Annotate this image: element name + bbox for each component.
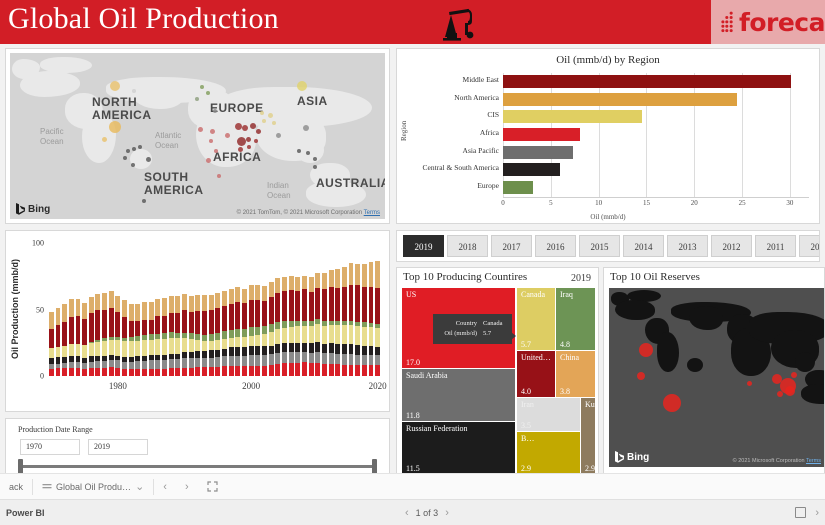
stacked-segment[interactable] bbox=[222, 356, 227, 366]
stacked-segment[interactable] bbox=[235, 347, 240, 356]
stacked-segment[interactable] bbox=[335, 269, 340, 288]
map-data-bubble[interactable] bbox=[131, 163, 135, 167]
map-data-bubble[interactable] bbox=[126, 149, 130, 153]
stacked-column[interactable] bbox=[229, 289, 234, 376]
stacked-segment[interactable] bbox=[262, 334, 267, 346]
status-bar-actions[interactable]: › bbox=[795, 507, 819, 519]
stacked-segment[interactable] bbox=[242, 366, 247, 376]
stacked-segment[interactable] bbox=[322, 289, 327, 322]
stacked-segment[interactable] bbox=[222, 349, 227, 357]
stacked-column[interactable] bbox=[349, 263, 354, 376]
stacked-segment[interactable] bbox=[135, 341, 140, 357]
bar-row[interactable]: Middle East bbox=[503, 73, 809, 91]
stacked-segment[interactable] bbox=[255, 366, 260, 376]
stacked-segment[interactable] bbox=[369, 355, 374, 365]
stacked-segment[interactable] bbox=[349, 285, 354, 320]
stacked-segment[interactable] bbox=[375, 355, 380, 365]
stacked-segment[interactable] bbox=[322, 344, 327, 354]
stacked-segment[interactable] bbox=[302, 326, 307, 343]
map-data-bubble[interactable] bbox=[132, 89, 136, 93]
stacked-segment[interactable] bbox=[202, 295, 207, 311]
stacked-segment[interactable] bbox=[229, 289, 234, 304]
production-map-visual[interactable]: Bing © 2021 TomTom, © 2021 Microsoft Cor… bbox=[5, 48, 390, 224]
stacked-segment[interactable] bbox=[302, 276, 307, 290]
stacked-segment[interactable] bbox=[95, 294, 100, 310]
stacked-column[interactable] bbox=[155, 299, 160, 376]
stacked-segment[interactable] bbox=[342, 354, 347, 365]
stacked-segment[interactable] bbox=[202, 341, 207, 352]
stacked-segment[interactable] bbox=[349, 344, 354, 354]
stacked-segment[interactable] bbox=[209, 310, 214, 334]
stacked-column[interactable] bbox=[142, 302, 147, 376]
stacked-segment[interactable] bbox=[362, 355, 367, 365]
stacked-segment[interactable] bbox=[275, 322, 280, 329]
stacked-segment[interactable] bbox=[149, 360, 154, 369]
stacked-segment[interactable] bbox=[56, 368, 61, 376]
treemap-tile[interactable]: B…2.9 bbox=[517, 432, 580, 474]
stacked-segment[interactable] bbox=[89, 297, 94, 313]
stacked-segment[interactable] bbox=[269, 354, 274, 365]
stacked-column[interactable] bbox=[76, 299, 81, 376]
stacked-segment[interactable] bbox=[262, 355, 267, 366]
stacked-column[interactable] bbox=[175, 296, 180, 376]
date-range-handle-right[interactable] bbox=[372, 459, 377, 474]
map-data-bubble[interactable] bbox=[313, 157, 317, 161]
stacked-segment[interactable] bbox=[102, 368, 107, 376]
stacked-segment[interactable] bbox=[209, 334, 214, 341]
stacked-column[interactable] bbox=[302, 276, 307, 376]
bar-rect[interactable] bbox=[503, 93, 737, 106]
stacked-segment[interactable] bbox=[255, 300, 260, 327]
stacked-segment[interactable] bbox=[195, 367, 200, 376]
stacked-segment[interactable] bbox=[315, 363, 320, 376]
year-slicer-button-2013[interactable]: 2013 bbox=[667, 235, 708, 257]
stacked-segment[interactable] bbox=[235, 302, 240, 329]
stacked-segment[interactable] bbox=[215, 367, 220, 376]
stacked-segment[interactable] bbox=[222, 331, 227, 339]
stacked-segment[interactable] bbox=[169, 368, 174, 376]
stacked-segment[interactable] bbox=[115, 296, 120, 313]
stacked-segment[interactable] bbox=[362, 327, 367, 346]
stacked-segment[interactable] bbox=[215, 333, 220, 340]
reserves-data-bubble[interactable] bbox=[785, 386, 795, 396]
map-data-bubble[interactable] bbox=[198, 127, 203, 132]
stacked-segment[interactable] bbox=[295, 291, 300, 321]
stacked-segment[interactable] bbox=[155, 299, 160, 317]
stacked-segment[interactable] bbox=[109, 291, 114, 308]
stacked-segment[interactable] bbox=[275, 344, 280, 353]
map-data-bubble[interactable] bbox=[256, 129, 261, 134]
stacked-segment[interactable] bbox=[182, 358, 187, 367]
map-terms-link[interactable]: Terms bbox=[364, 210, 380, 216]
stacked-segment[interactable] bbox=[249, 366, 254, 376]
stacked-column[interactable] bbox=[375, 261, 380, 376]
bar-row[interactable]: Europe bbox=[503, 179, 809, 197]
map-data-bubble[interactable] bbox=[142, 199, 146, 203]
stacked-segment[interactable] bbox=[76, 316, 81, 344]
stacked-segment[interactable] bbox=[275, 364, 280, 376]
year-slicer-strip[interactable]: 2019201820172016201520142013201220112010… bbox=[403, 235, 819, 259]
bar-row[interactable]: Africa bbox=[503, 126, 809, 144]
stacked-segment[interactable] bbox=[309, 326, 314, 343]
stacked-segment[interactable] bbox=[302, 289, 307, 320]
stacked-segment[interactable] bbox=[202, 358, 207, 367]
stacked-column[interactable] bbox=[289, 276, 294, 376]
map-data-bubble[interactable] bbox=[213, 109, 217, 113]
stacked-segment[interactable] bbox=[62, 346, 67, 357]
stacked-segment[interactable] bbox=[282, 291, 287, 322]
oil-production-stacked-column-chart[interactable]: Oil Production (mmb/d) 050100 1980200020… bbox=[5, 230, 390, 412]
bar-row[interactable]: CIS bbox=[503, 108, 809, 126]
bar-rect[interactable] bbox=[503, 110, 642, 123]
stacked-segment[interactable] bbox=[122, 317, 127, 338]
stacked-segment[interactable] bbox=[355, 326, 360, 345]
stacked-column[interactable] bbox=[295, 277, 300, 376]
stacked-segment[interactable] bbox=[209, 341, 214, 351]
stacked-segment[interactable] bbox=[335, 344, 340, 354]
stacked-segment[interactable] bbox=[362, 264, 367, 287]
stacked-segment[interactable] bbox=[142, 361, 147, 369]
map-data-bubble[interactable] bbox=[132, 147, 136, 151]
stacked-segment[interactable] bbox=[302, 352, 307, 363]
map-data-bubble[interactable] bbox=[272, 121, 276, 125]
pager-next-icon[interactable]: › bbox=[445, 507, 449, 519]
map-data-bubble[interactable] bbox=[260, 111, 264, 115]
map-data-bubble[interactable] bbox=[109, 121, 121, 133]
stacked-segment[interactable] bbox=[309, 292, 314, 321]
bar-rect[interactable] bbox=[503, 128, 580, 141]
treemap-tile[interactable]: United…4.0 bbox=[517, 351, 555, 397]
stacked-segment[interactable] bbox=[355, 285, 360, 321]
map-data-bubble[interactable] bbox=[303, 125, 309, 131]
stacked-segment[interactable] bbox=[229, 347, 234, 356]
stacked-segment[interactable] bbox=[142, 369, 147, 376]
stacked-segment[interactable] bbox=[289, 327, 294, 343]
nav-prev-button[interactable]: ‹ bbox=[154, 474, 176, 499]
stacked-column[interactable] bbox=[149, 302, 154, 376]
stacked-segment[interactable] bbox=[295, 343, 300, 352]
stacked-segment[interactable] bbox=[289, 290, 294, 321]
stacked-segment[interactable] bbox=[249, 346, 254, 355]
stacked-segment[interactable] bbox=[282, 277, 287, 291]
stacked-segment[interactable] bbox=[222, 339, 227, 348]
stacked-segment[interactable] bbox=[115, 360, 120, 367]
year-slicer-button-2019[interactable]: 2019 bbox=[403, 235, 444, 257]
stacked-segment[interactable] bbox=[355, 355, 360, 366]
stacked-segment[interactable] bbox=[335, 364, 340, 376]
map-data-bubble[interactable] bbox=[297, 81, 307, 91]
stacked-segment[interactable] bbox=[162, 339, 167, 355]
stacked-segment[interactable] bbox=[56, 308, 61, 326]
nav-next-button[interactable]: › bbox=[176, 474, 198, 499]
treemap-tile[interactable]: Saudi Arabia11.8 bbox=[402, 369, 515, 421]
stacked-segment[interactable] bbox=[102, 361, 107, 368]
stacked-segment[interactable] bbox=[215, 357, 220, 367]
stacked-segment[interactable] bbox=[115, 340, 120, 356]
stacked-segment[interactable] bbox=[189, 312, 194, 333]
stacked-segment[interactable] bbox=[169, 296, 174, 314]
stacked-segment[interactable] bbox=[369, 346, 374, 355]
stacked-column[interactable] bbox=[335, 269, 340, 376]
stacked-segment[interactable] bbox=[289, 343, 294, 352]
stacked-segment[interactable] bbox=[342, 287, 347, 321]
stacked-segment[interactable] bbox=[349, 263, 354, 285]
stacked-segment[interactable] bbox=[235, 337, 240, 346]
year-slicer-button-2015[interactable]: 2015 bbox=[579, 235, 620, 257]
stacked-segment[interactable] bbox=[329, 287, 334, 321]
stacked-segment[interactable] bbox=[69, 368, 74, 377]
stacked-segment[interactable] bbox=[142, 340, 147, 356]
stacked-segment[interactable] bbox=[302, 343, 307, 352]
stacked-segment[interactable] bbox=[189, 368, 194, 377]
stacked-segment[interactable] bbox=[129, 369, 134, 376]
stacked-segment[interactable] bbox=[282, 352, 287, 363]
stacked-column[interactable] bbox=[202, 295, 207, 376]
stacked-segment[interactable] bbox=[269, 282, 274, 297]
stacked-segment[interactable] bbox=[56, 347, 61, 357]
map-data-bubble[interactable] bbox=[210, 129, 215, 134]
stacked-segment[interactable] bbox=[82, 369, 87, 376]
stacked-segment[interactable] bbox=[282, 363, 287, 376]
stacked-segment[interactable] bbox=[209, 367, 214, 376]
stacked-segment[interactable] bbox=[242, 356, 247, 366]
stacked-segment[interactable] bbox=[69, 344, 74, 355]
stacked-segment[interactable] bbox=[129, 362, 134, 370]
stacked-segment[interactable] bbox=[375, 328, 380, 347]
reserves-map-canvas[interactable]: Bing © 2021 Microsoft Corporation Terms bbox=[609, 288, 824, 467]
bar-rect[interactable] bbox=[503, 146, 573, 159]
stacked-segment[interactable] bbox=[82, 345, 87, 358]
oil-by-region-bar-chart[interactable]: Oil (mmb/d) by Region Region Middle East… bbox=[396, 48, 820, 224]
stacked-segment[interactable] bbox=[269, 332, 274, 346]
year-slicer-button-2010[interactable]: 2010 bbox=[799, 235, 819, 257]
stacked-segment[interactable] bbox=[275, 353, 280, 364]
stacked-segment[interactable] bbox=[89, 368, 94, 376]
stacked-segment[interactable] bbox=[182, 310, 187, 332]
bar-rect[interactable] bbox=[503, 181, 533, 194]
stacked-segment[interactable] bbox=[195, 311, 200, 334]
stacked-segment[interactable] bbox=[89, 313, 94, 342]
stacked-segment[interactable] bbox=[82, 319, 87, 344]
stacked-segment[interactable] bbox=[362, 287, 367, 323]
status-more-icon[interactable]: › bbox=[815, 507, 819, 519]
stacked-segment[interactable] bbox=[155, 369, 160, 376]
stacked-segment[interactable] bbox=[215, 308, 220, 332]
stacked-segment[interactable] bbox=[249, 285, 254, 300]
stacked-column[interactable] bbox=[329, 270, 334, 376]
stacked-segment[interactable] bbox=[175, 296, 180, 313]
stacked-column[interactable] bbox=[309, 277, 314, 376]
map-data-bubble[interactable] bbox=[297, 149, 301, 153]
stacked-segment[interactable] bbox=[62, 304, 67, 322]
stacked-segment[interactable] bbox=[255, 355, 260, 365]
stacked-column[interactable] bbox=[69, 299, 74, 376]
stacked-segment[interactable] bbox=[109, 360, 114, 367]
stacked-segment[interactable] bbox=[182, 368, 187, 377]
stacked-segment[interactable] bbox=[222, 291, 227, 306]
stacked-segment[interactable] bbox=[49, 348, 54, 357]
top-producing-countries-treemap[interactable]: Top 10 Producing Countires 2019 US17.0Sa… bbox=[396, 267, 599, 474]
stacked-segment[interactable] bbox=[249, 327, 254, 335]
stacked-segment[interactable] bbox=[109, 308, 114, 337]
stacked-segment[interactable] bbox=[335, 325, 340, 343]
reserves-data-bubble[interactable] bbox=[637, 372, 645, 380]
stacked-segment[interactable] bbox=[149, 320, 154, 334]
stacked-column[interactable] bbox=[49, 312, 54, 376]
map-data-bubble[interactable] bbox=[214, 149, 218, 153]
reserves-data-bubble[interactable] bbox=[791, 372, 797, 378]
stacked-column[interactable] bbox=[262, 286, 267, 376]
stacked-segment[interactable] bbox=[242, 337, 247, 347]
stacked-segment[interactable] bbox=[342, 344, 347, 354]
stacked-column[interactable] bbox=[95, 294, 100, 376]
stacked-segment[interactable] bbox=[149, 369, 154, 376]
stacked-segment[interactable] bbox=[309, 363, 314, 376]
stacked-segment[interactable] bbox=[195, 295, 200, 311]
stacked-segment[interactable] bbox=[369, 287, 374, 323]
stacked-segment[interactable] bbox=[329, 270, 334, 287]
stacked-segment[interactable] bbox=[255, 327, 260, 335]
report-page-selector[interactable]: Global Oil Produ… ⌄ bbox=[33, 474, 153, 499]
treemap-tile[interactable]: Russian Federation11.5 bbox=[402, 422, 515, 474]
stacked-segment[interactable] bbox=[109, 367, 114, 376]
stacked-segment[interactable] bbox=[102, 341, 107, 356]
stacked-segment[interactable] bbox=[275, 293, 280, 323]
year-slicer-button-2017[interactable]: 2017 bbox=[491, 235, 532, 257]
map-data-bubble[interactable] bbox=[235, 123, 242, 130]
stacked-segment[interactable] bbox=[282, 343, 287, 352]
date-range-start-input[interactable]: 1970 bbox=[20, 439, 80, 455]
stacked-segment[interactable] bbox=[322, 326, 327, 344]
page-pager[interactable]: ‹ 1 of 3 › bbox=[405, 507, 449, 519]
map-data-bubble[interactable] bbox=[242, 125, 248, 131]
stacked-segment[interactable] bbox=[235, 356, 240, 366]
map-data-bubble[interactable] bbox=[123, 156, 127, 160]
stacked-segment[interactable] bbox=[242, 329, 247, 337]
stacked-segment[interactable] bbox=[162, 298, 167, 316]
stacked-segment[interactable] bbox=[69, 317, 74, 344]
stacked-segment[interactable] bbox=[375, 347, 380, 355]
map-data-bubble[interactable] bbox=[200, 85, 204, 89]
stacked-segment[interactable] bbox=[229, 338, 234, 347]
stacked-segment[interactable] bbox=[329, 325, 334, 343]
map-data-bubble[interactable] bbox=[254, 139, 258, 143]
stacked-segment[interactable] bbox=[289, 352, 294, 363]
stacked-segment[interactable] bbox=[329, 364, 334, 376]
stacked-column[interactable] bbox=[102, 293, 107, 376]
stacked-segment[interactable] bbox=[129, 304, 134, 321]
stacked-segment[interactable] bbox=[309, 353, 314, 364]
stacked-segment[interactable] bbox=[375, 365, 380, 376]
stacked-column[interactable] bbox=[362, 264, 367, 376]
stacked-segment[interactable] bbox=[269, 346, 274, 355]
stacked-segment[interactable] bbox=[169, 338, 174, 354]
stacked-segment[interactable] bbox=[262, 301, 267, 326]
stacked-column[interactable] bbox=[255, 285, 260, 376]
stacked-segment[interactable] bbox=[275, 278, 280, 293]
stacked-column[interactable] bbox=[195, 295, 200, 376]
map-data-bubble[interactable] bbox=[262, 119, 266, 123]
stacked-segment[interactable] bbox=[335, 354, 340, 365]
map-data-bubble[interactable] bbox=[217, 174, 221, 178]
stacked-segment[interactable] bbox=[149, 340, 154, 355]
stacked-segment[interactable] bbox=[115, 312, 120, 336]
reserves-terms-link[interactable]: Terms bbox=[806, 458, 821, 464]
stacked-segment[interactable] bbox=[76, 299, 81, 316]
stacked-segment[interactable] bbox=[135, 361, 140, 369]
map-data-bubble[interactable] bbox=[102, 137, 107, 142]
stacked-segment[interactable] bbox=[209, 358, 214, 367]
stacked-segment[interactable] bbox=[155, 360, 160, 369]
pager-prev-icon[interactable]: ‹ bbox=[405, 507, 409, 519]
stacked-segment[interactable] bbox=[269, 365, 274, 376]
stacked-column[interactable] bbox=[115, 296, 120, 376]
stacked-column[interactable] bbox=[369, 262, 374, 376]
reserves-data-bubble[interactable] bbox=[777, 391, 783, 397]
map-data-bubble[interactable] bbox=[238, 147, 243, 152]
stacked-segment[interactable] bbox=[322, 353, 327, 364]
stacked-segment[interactable] bbox=[189, 339, 194, 352]
date-range-handle-left[interactable] bbox=[18, 459, 23, 474]
map-data-bubble[interactable] bbox=[225, 133, 230, 138]
bing-map-canvas[interactable]: Bing © 2021 TomTom, © 2021 Microsoft Cor… bbox=[10, 53, 385, 219]
stacked-segment[interactable] bbox=[142, 302, 147, 320]
stacked-segment[interactable] bbox=[222, 306, 227, 331]
stacked-segment[interactable] bbox=[155, 316, 160, 333]
bar-chart-plot-area[interactable]: Middle EastNorth AmericaCISAfricaAsia Pa… bbox=[503, 73, 809, 197]
stacked-segment[interactable] bbox=[182, 294, 187, 311]
stacked-segment[interactable] bbox=[262, 346, 267, 355]
stacked-segment[interactable] bbox=[255, 335, 260, 346]
stacked-segment[interactable] bbox=[349, 325, 354, 344]
stacked-column[interactable] bbox=[122, 300, 127, 376]
stacked-segment[interactable] bbox=[122, 300, 127, 317]
stacked-column[interactable] bbox=[269, 282, 274, 376]
bar-row[interactable]: Asia Pacific bbox=[503, 144, 809, 162]
stacked-segment[interactable] bbox=[202, 367, 207, 376]
stacked-segment[interactable] bbox=[295, 326, 300, 343]
stacked-segment[interactable] bbox=[95, 361, 100, 368]
map-data-bubble[interactable] bbox=[268, 113, 273, 118]
year-slicer-button-2016[interactable]: 2016 bbox=[535, 235, 576, 257]
stacked-segment[interactable] bbox=[122, 362, 127, 369]
stacked-segment[interactable] bbox=[329, 353, 334, 364]
year-slicer[interactable]: 2019201820172016201520142013201220112010… bbox=[396, 230, 820, 262]
map-data-bubble[interactable] bbox=[138, 145, 142, 149]
stacked-column[interactable] bbox=[129, 304, 134, 376]
map-data-bubble[interactable] bbox=[146, 157, 151, 162]
treemap-tile[interactable]: Iran3.5 bbox=[517, 398, 580, 431]
stacked-segment[interactable] bbox=[349, 365, 354, 376]
stacked-segment[interactable] bbox=[95, 310, 100, 339]
stacked-column[interactable] bbox=[275, 278, 280, 376]
stacked-segment[interactable] bbox=[355, 345, 360, 355]
stacked-segment[interactable] bbox=[49, 369, 54, 376]
stacked-column[interactable] bbox=[182, 294, 187, 376]
stacked-segment[interactable] bbox=[142, 320, 147, 335]
stacked-segment[interactable] bbox=[302, 362, 307, 376]
treemap-plot-area[interactable]: US17.0Saudi Arabia11.8Russian Federation… bbox=[402, 288, 595, 474]
stacked-segment[interactable] bbox=[269, 324, 274, 331]
stacked-segment[interactable] bbox=[295, 363, 300, 376]
stacked-segment[interactable] bbox=[222, 366, 227, 376]
treemap-tile[interactable]: China3.8 bbox=[556, 351, 595, 397]
stacked-chart-plot-area[interactable] bbox=[48, 243, 381, 376]
production-date-range-slicer[interactable]: Production Date Range 1970 2019 bbox=[5, 418, 390, 474]
stacked-segment[interactable] bbox=[122, 369, 127, 376]
date-range-end-input[interactable]: 2019 bbox=[88, 439, 148, 455]
map-data-bubble[interactable] bbox=[206, 158, 211, 163]
